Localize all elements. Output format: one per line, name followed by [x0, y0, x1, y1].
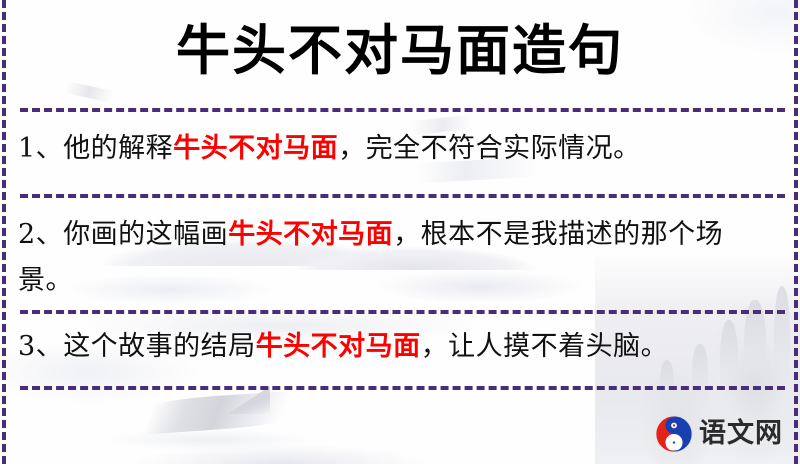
example-sentence-1: 1、他的解释牛头不对马面，完全不符合实际情况。	[18, 126, 770, 172]
border-right-dashed	[794, 0, 798, 464]
page-title: 牛头不对马面造句	[0, 14, 800, 86]
watermark-river	[60, 424, 360, 456]
divider-after-sentence-2	[20, 310, 785, 314]
example-sentence-3: 3、这个故事的结局牛头不对马面，让人摸不着头脑。	[18, 324, 770, 370]
sentence-2-before: 你画的这幅画	[63, 219, 228, 250]
sentence-1-idiom: 牛头不对马面	[173, 133, 338, 164]
watermark-tree	[774, 286, 790, 390]
sentence-card-page: 牛头不对马面造句 1、他的解释牛头不对马面，完全不符合实际情况。 2、你画的这幅…	[0, 0, 800, 464]
sentence-3-index: 3、	[18, 331, 63, 362]
divider-after-sentence-3	[20, 386, 785, 390]
example-sentence-2: 2、你画的这幅画牛头不对马面，根本不是我描述的那个场景。	[18, 212, 770, 304]
watermark-boat	[114, 389, 311, 436]
sentence-1-after: ，完全不符合实际情况。	[338, 133, 641, 164]
sentence-2-idiom: 牛头不对马面	[228, 219, 393, 250]
sentence-3-after: ，让人摸不着头脑。	[421, 331, 669, 362]
border-left-dashed	[2, 0, 6, 464]
sentence-1-before: 他的解释	[63, 133, 173, 164]
site-logo-text: 语文网	[699, 419, 783, 449]
site-logo[interactable]: 语文网	[655, 414, 783, 454]
watermark-boat-sail	[228, 386, 270, 414]
divider-after-sentence-1	[20, 194, 785, 198]
divider-under-title	[20, 108, 785, 112]
sentence-1-index: 1、	[18, 133, 63, 164]
sentence-3-before: 这个故事的结局	[63, 331, 256, 362]
sentence-2-index: 2、	[18, 219, 63, 250]
watermark-hill	[70, 408, 490, 464]
sentence-3-idiom: 牛头不对马面	[256, 331, 421, 362]
yin-yang-fish-icon	[655, 415, 693, 453]
